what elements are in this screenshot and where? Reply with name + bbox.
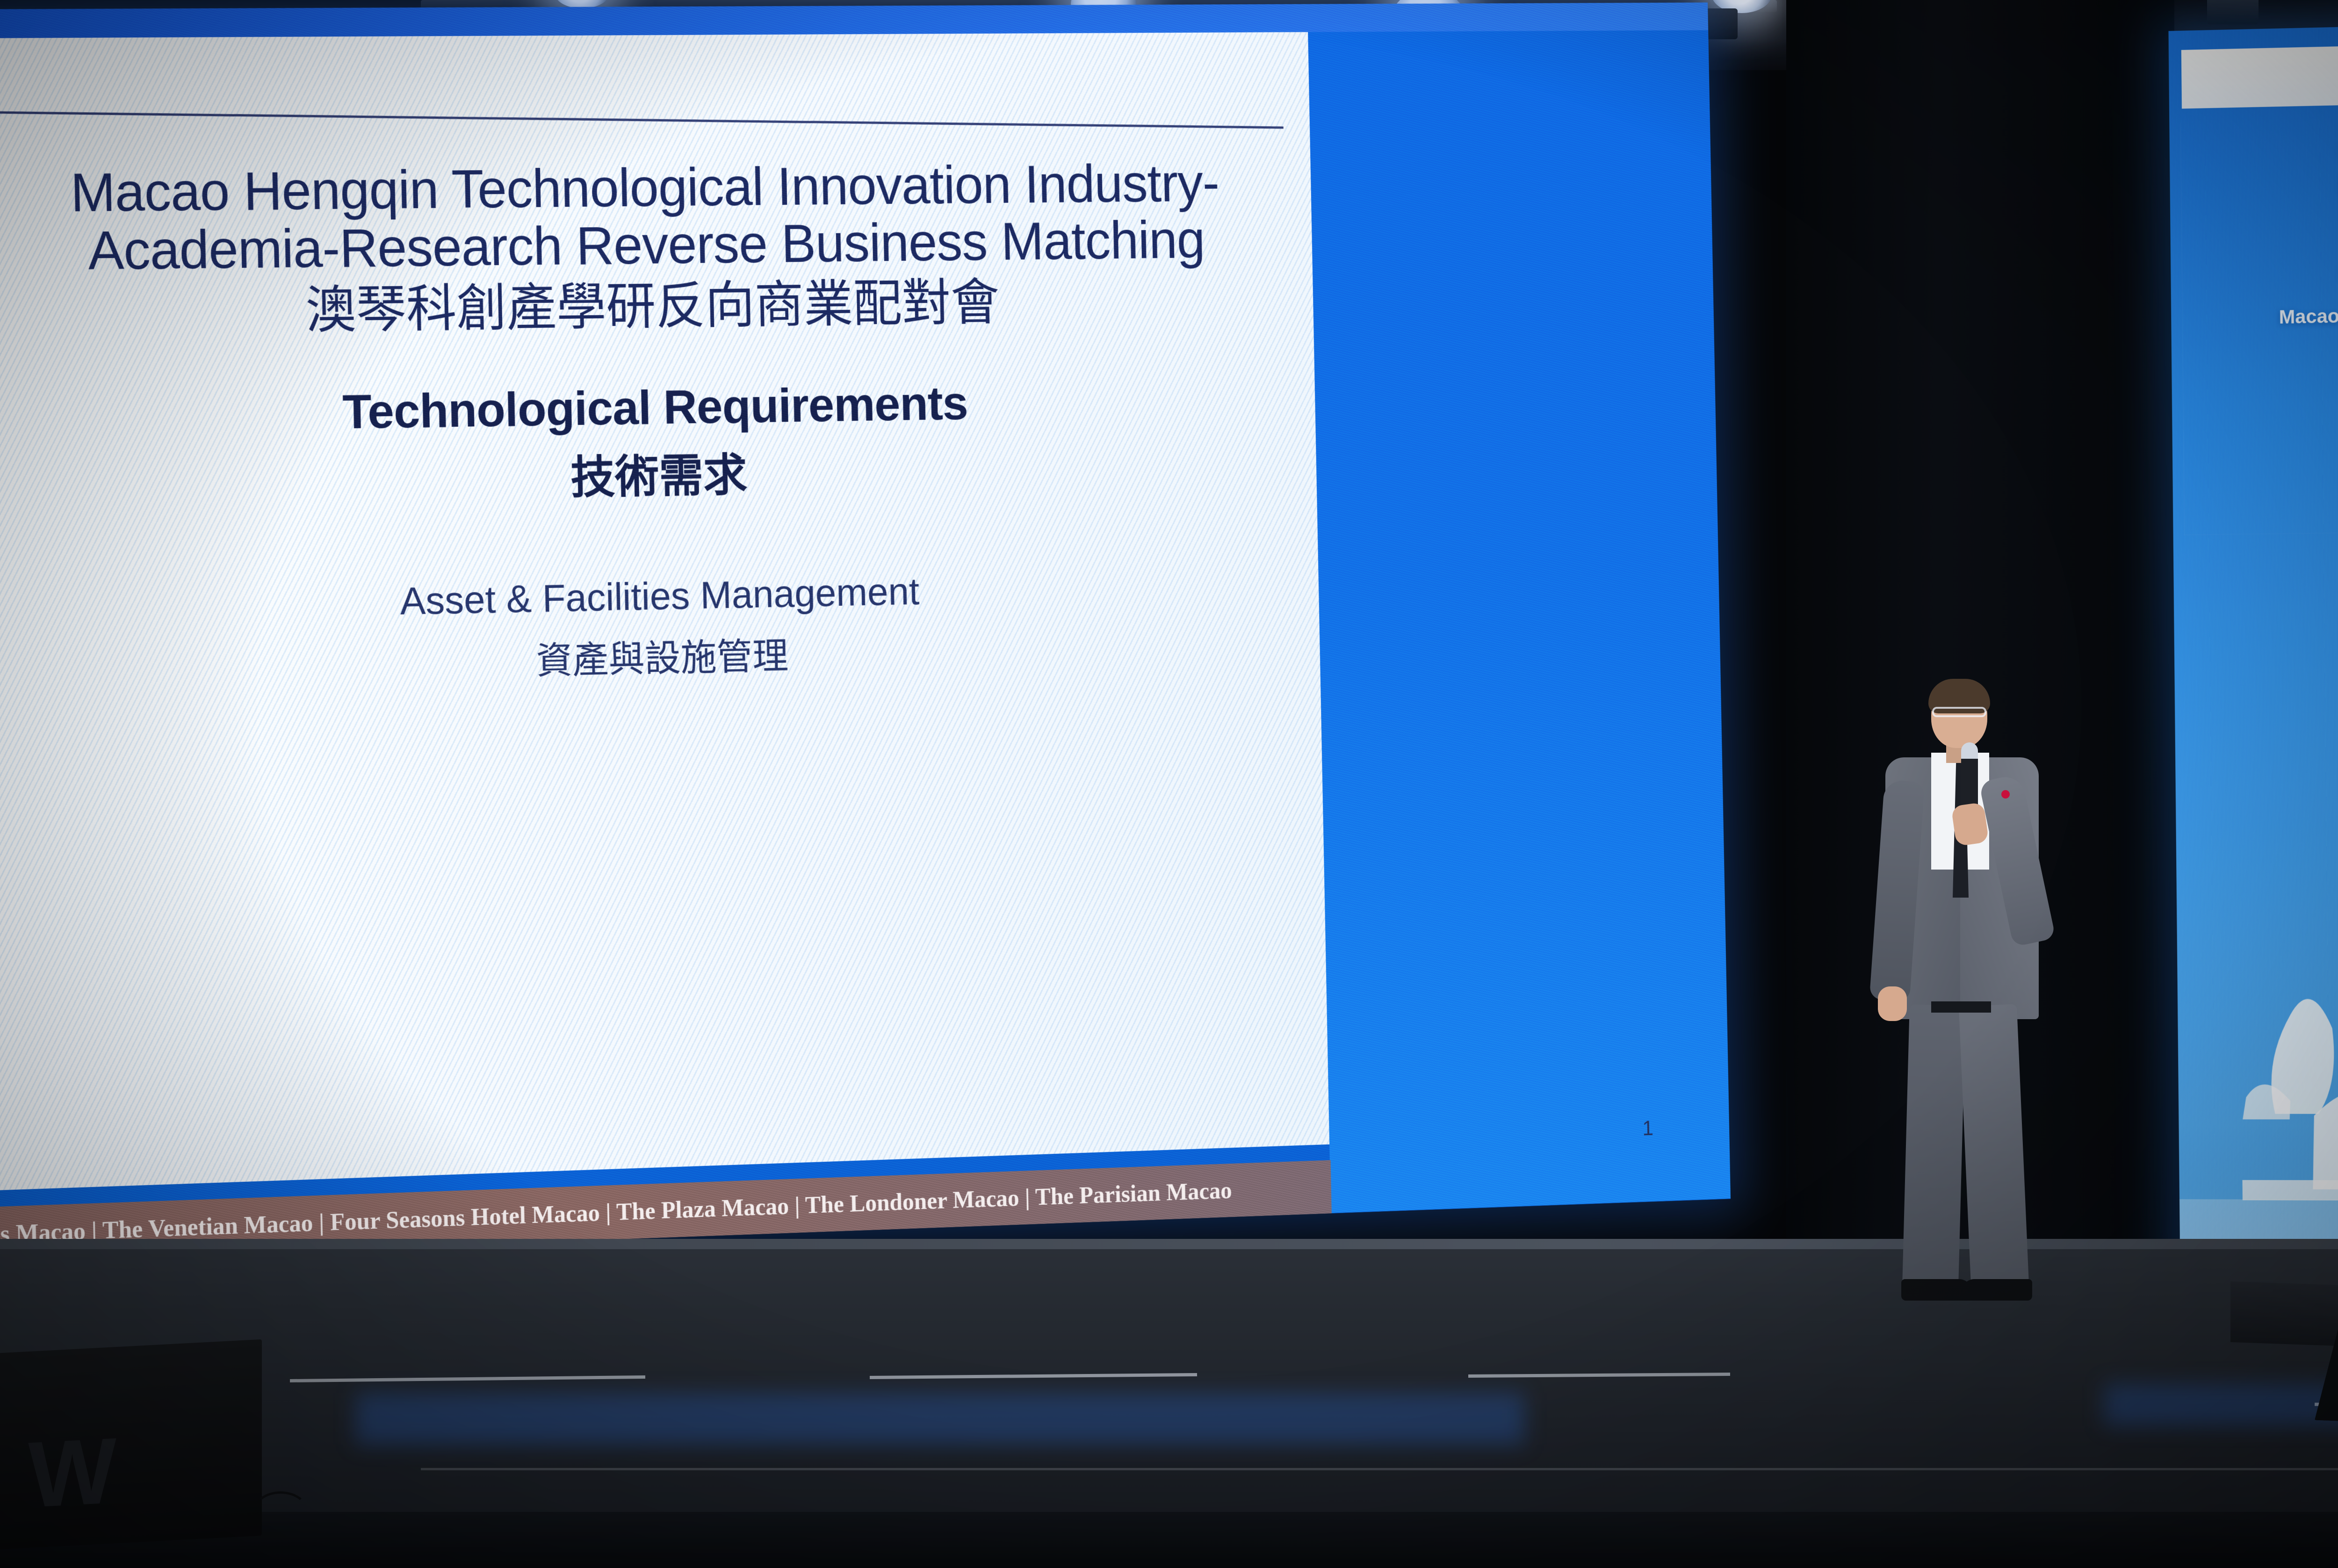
- stage-scene: Macao Hengqin Technological Innovation I…: [0, 0, 2338, 1568]
- stage-monitor-speaker-left: W: [0, 1339, 262, 1550]
- slide-title-cn: 澳琴科創產學研反向商業配對會: [35, 271, 1257, 342]
- presenter: [1861, 683, 2057, 1346]
- main-presentation-screen: Macao Hengqin Technological Innovation I…: [0, 2, 1731, 1262]
- right-led-panel: 指導單位 Advisor 澳門特別行政區政府 經濟及科技發展局 / 科學技術發展…: [2169, 10, 2338, 1294]
- belt: [1931, 1001, 1991, 1013]
- slide-content: Macao Hengqin Technological Innovation I…: [0, 32, 1329, 1191]
- macao-skyline-silhouette: [2176, 770, 2338, 1294]
- sponsor-logo-band: 指導單位 Advisor 澳門特別行政區政府 經濟及科技發展局 / 科學技術發展…: [2181, 30, 2338, 109]
- speaker-brand-mark: W: [28, 1417, 116, 1529]
- floor-reflection: [2104, 1384, 2338, 1426]
- slide-topic-cn: 資產與設施管理: [42, 616, 1264, 695]
- spotlight-body: [2207, 0, 2259, 24]
- trouser-leg: [1902, 1005, 1966, 1287]
- dress-shoe: [1962, 1279, 2032, 1301]
- lapel-pin: [2001, 790, 2010, 798]
- stage-apron: [0, 1512, 2338, 1568]
- audio-cable: [253, 1491, 309, 1533]
- stage-monitor-wedge-right: M: [2315, 1266, 2338, 1431]
- trouser-leg: [1959, 1004, 2029, 1287]
- slide-page-number: 1: [1642, 1116, 1653, 1140]
- hand-right: [1951, 802, 1989, 847]
- trousers: [1906, 1005, 2023, 1295]
- hand-left: [1878, 986, 1907, 1021]
- panel-subtitle-en: Macao Hengqin Technological Innovation I…: [2198, 291, 2338, 359]
- eyeglasses-icon: [1932, 707, 1986, 717]
- panel-event-date: 29 / 05 / 2025: [2172, 380, 2338, 426]
- slide-blue-panel: [1308, 30, 1731, 1213]
- slide-title-en: Macao Hengqin Technological Innovation I…: [32, 154, 1256, 281]
- floor-tape-marker: [421, 1468, 2338, 1470]
- floor-reflection: [355, 1393, 1524, 1445]
- panel-title-cn: 澳琴科創產學研 反向商業配對會: [2169, 101, 2338, 291]
- slide-footer-text: ds Macao | The Venetian Macao | Four Sea…: [0, 1177, 1232, 1248]
- speaker-cabinet: [2315, 1266, 2338, 1431]
- slide-section-cn: 技術需求: [38, 431, 1261, 516]
- dress-shoe: [1901, 1279, 1971, 1301]
